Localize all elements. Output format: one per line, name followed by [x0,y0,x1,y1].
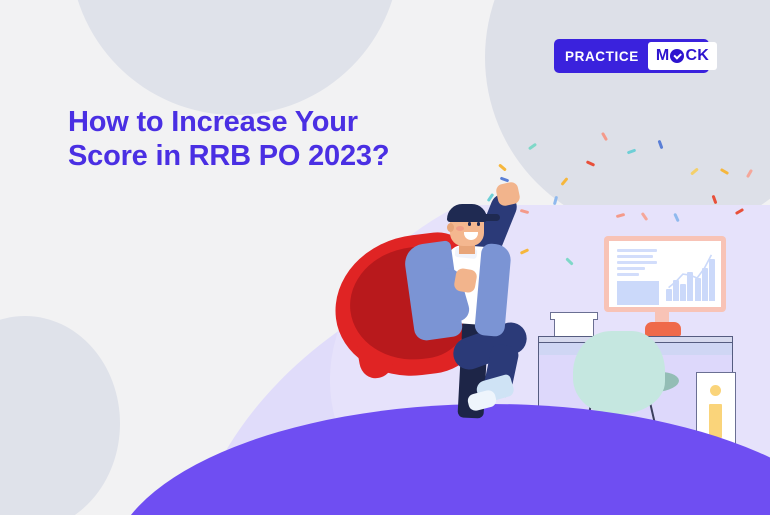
banner-canvas: PRACTICE M CK How to Increase Your Score… [0,0,770,515]
confetti-piece [746,169,753,178]
confetti-piece [735,208,744,215]
confetti-piece [487,193,495,202]
confetti-piece [616,213,625,218]
confetti-piece [560,177,568,186]
check-circle-icon [670,49,684,63]
confetti-piece [627,149,636,155]
confetti-piece [565,257,573,265]
confetti-piece [720,168,729,175]
confetti-piece [528,143,537,151]
confetti-piece [641,212,649,221]
confetti-piece [520,209,529,214]
confetti-piece [712,195,718,204]
confetti-piece [690,167,699,175]
brand-logo[interactable]: PRACTICE M CK [554,39,709,73]
confetti-piece [500,177,509,183]
logo-practice-text: PRACTICE [554,49,648,64]
logo-mock-prefix: M [656,47,670,65]
confetti-piece [673,213,680,222]
confetti-piece [520,248,529,255]
confetti-piece [601,132,608,141]
confetti-piece [658,140,664,149]
confetti-piece [553,196,558,205]
confetti-layer [0,0,770,515]
logo-mock-suffix: CK [685,47,709,65]
page-title: How to Increase Your Score in RRB PO 202… [68,105,398,173]
confetti-piece [498,163,507,171]
logo-mock-text: M CK [656,47,709,65]
confetti-piece [586,160,595,167]
logo-mock-box: M CK [648,42,717,70]
